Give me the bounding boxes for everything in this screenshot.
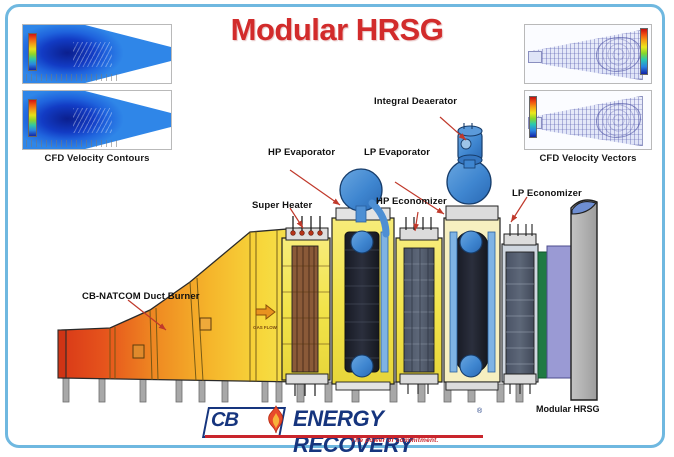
lp-downcomer-left <box>450 232 457 372</box>
deaerator-manway <box>461 139 471 149</box>
screenshot-root: Modular HRSG CFD Velocity Contours <box>0 0 674 457</box>
flame-icon <box>265 405 287 435</box>
outlet-green-panel <box>538 252 547 378</box>
leader-lp-economizer <box>511 197 527 222</box>
superheater-lower-header <box>286 374 328 384</box>
stack-caption: Modular HRSG <box>536 404 600 414</box>
gas-flow-label: GAS FLOW <box>253 325 278 330</box>
access-door <box>200 318 211 330</box>
callout-hp-economizer: HP Economizer <box>376 196 447 207</box>
hp-upper-header <box>351 231 373 253</box>
leader-super-heater <box>290 208 303 228</box>
hp-evaporator-base <box>336 382 390 390</box>
callout-duct-burner: CB-NATCOM Duct Burner <box>82 291 200 302</box>
lp-downcomer-right <box>488 232 495 372</box>
logo-tagline: The power of commitment. <box>351 437 439 444</box>
lp-economizer-tube-bundle <box>506 252 534 374</box>
hp-drum-riser-pipe <box>356 206 366 222</box>
callout-hp-evaporator: HP Evaporator <box>268 147 335 158</box>
hp-economizer-tube-bundle <box>404 248 434 372</box>
access-door <box>133 345 144 358</box>
hp-economizer-lower-header <box>400 374 438 384</box>
hp-downcomer <box>381 232 388 372</box>
hp-lower-header <box>351 355 373 377</box>
callout-lp-economizer: LP Economizer <box>512 188 582 199</box>
logo-wordmark: ENERGY RECOVERY <box>293 406 495 457</box>
callout-lp-evaporator: LP Evaporator <box>364 147 430 158</box>
deaerator-downcomer <box>464 160 475 168</box>
hp-economizer-module <box>396 217 442 394</box>
super-heater-module <box>282 216 330 396</box>
logo-registered-mark: ® <box>477 408 482 415</box>
deaerator-top-head <box>458 126 482 136</box>
company-logo: CB ENERGY RECOVERY ® The power of commit… <box>205 405 495 449</box>
hrsg-cutaway-drawing: GAS FLOW <box>0 0 674 457</box>
lp-evaporator-top-casing <box>446 206 498 220</box>
exhaust-stack <box>571 200 597 400</box>
logo-cb-text: CB <box>211 409 239 432</box>
callout-integral-deaerator: Integral Deaerator <box>374 96 457 107</box>
outlet-transition-duct <box>547 246 571 378</box>
lp-evaporator-base <box>446 382 498 390</box>
logo-underline-bar <box>205 435 483 438</box>
lp-economizer-upper-header <box>504 234 536 245</box>
lp-economizer-module <box>502 224 538 394</box>
lp-evaporator-module <box>444 123 500 390</box>
lp-lower-header <box>460 355 482 377</box>
inlet-transition-duct <box>58 228 300 382</box>
lp-economizer-lower-header <box>504 374 536 384</box>
gas-turbine-inlet-flange <box>58 330 66 378</box>
callout-super-heater: Super Heater <box>252 200 312 211</box>
lp-upper-header <box>460 231 482 253</box>
